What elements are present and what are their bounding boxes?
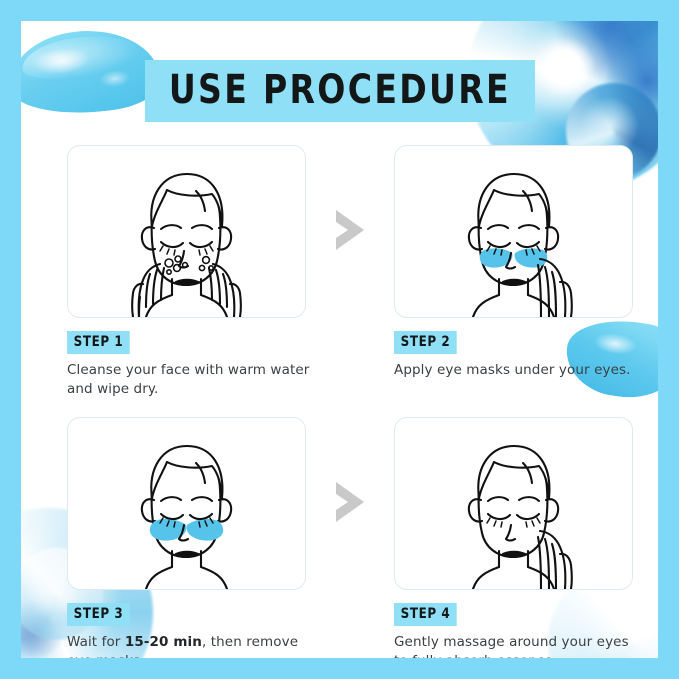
step-2-label: STEP 2: [394, 331, 457, 354]
chevron-right-icon: [330, 479, 370, 525]
face-wearing-eye-patches-icon: [68, 418, 305, 589]
face-massaging-icon: [395, 418, 632, 589]
step-3-description: Wait for 15-20 min, then remove eye mask…: [67, 633, 317, 658]
step-item-2: STEP 2 Apply eye masks under your eyes.: [394, 145, 633, 380]
face-washing-with-foam-icon: [68, 146, 305, 317]
step-2-description: Apply eye masks under your eyes.: [394, 361, 644, 380]
step-item-4: STEP 4 Gently massage around your eyes t…: [394, 417, 633, 658]
step-2-illustration-card: [394, 145, 633, 318]
face-applying-eye-patches-icon: [395, 146, 632, 317]
steps-row-2: STEP 3 Wait for 15-20 min, then remove e…: [67, 417, 633, 658]
steps-grid: STEP 1 Cleanse your face with warm water…: [67, 145, 633, 658]
steps-row-1: STEP 1 Cleanse your face with warm water…: [67, 145, 633, 399]
step-1-description: Cleanse your face with warm water and wi…: [67, 361, 317, 399]
step-1-label: STEP 1: [67, 331, 130, 354]
step-item-1: STEP 1 Cleanse your face with warm water…: [67, 145, 306, 399]
step-4-description: Gently massage around your eyes to fully…: [394, 633, 644, 658]
step-1-illustration-card: [67, 145, 306, 318]
step-arrow-2: [306, 417, 394, 525]
chevron-right-icon: [330, 207, 370, 253]
step-item-3: STEP 3 Wait for 15-20 min, then remove e…: [67, 417, 306, 658]
step-3-illustration-card: [67, 417, 306, 590]
step-3-duration: 15-20 min: [125, 634, 202, 650]
step-arrow-1: [306, 145, 394, 253]
page-title-wrap: USE PROCEDURE: [21, 60, 658, 122]
step-3-label: STEP 3: [67, 603, 130, 626]
page-canvas: USE PROCEDURE: [21, 21, 658, 658]
step-4-label: STEP 4: [394, 603, 457, 626]
step-3-text-pre: Wait for: [67, 634, 125, 650]
page-title: USE PROCEDURE: [145, 60, 535, 122]
step-4-illustration-card: [394, 417, 633, 590]
promo-page: USE PROCEDURE: [0, 0, 679, 679]
